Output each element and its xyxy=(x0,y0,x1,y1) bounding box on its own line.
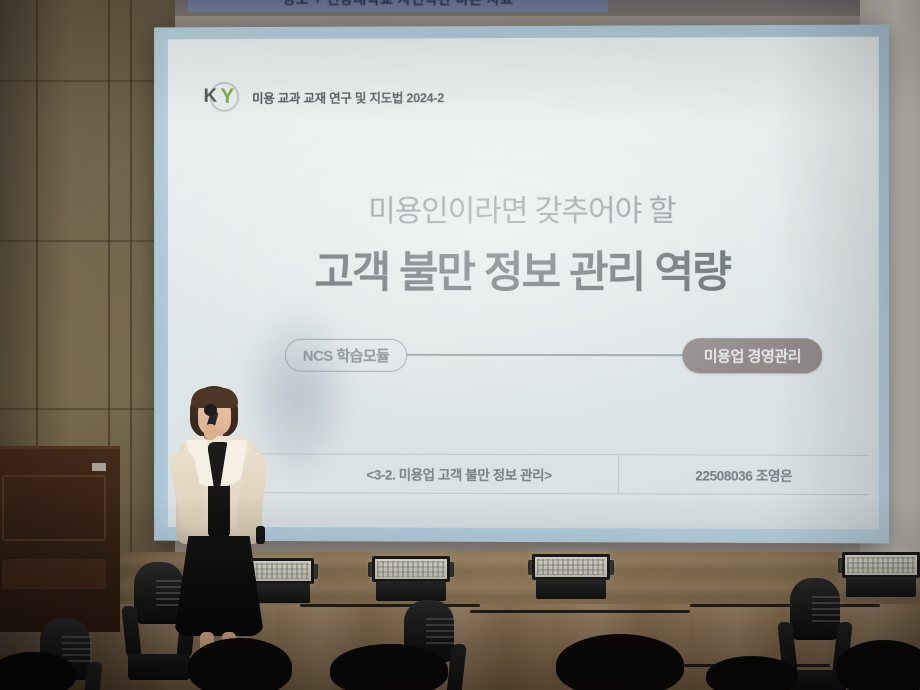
piano-tag xyxy=(92,463,106,471)
light-vent xyxy=(426,618,456,648)
footer-author-label: 22508036 조영은 xyxy=(619,455,869,494)
microphone-head xyxy=(204,404,217,416)
pill-connector-line xyxy=(407,354,682,356)
panel-base xyxy=(846,577,916,597)
panel-base xyxy=(536,579,606,599)
ky-logo-icon: K Y xyxy=(204,81,242,113)
wall-seam xyxy=(0,80,175,82)
audience-head xyxy=(188,638,292,690)
led-wash-panel xyxy=(368,556,454,606)
audience-head xyxy=(836,640,920,690)
panel-face xyxy=(842,552,920,578)
wall-seam xyxy=(0,408,175,410)
wall-seam xyxy=(130,0,132,560)
logo-letter-y: Y xyxy=(220,86,234,107)
piano-furniture xyxy=(0,446,120,632)
light-head xyxy=(790,578,840,640)
piano-panel xyxy=(2,475,106,541)
audience-head xyxy=(330,644,448,690)
wall-seam xyxy=(0,240,175,242)
panel-face xyxy=(372,556,450,582)
photo-scene: 정보 + 건강대학교 자연학관 바른 자료 K Y 미용 교과 교재 연구 및 … xyxy=(0,0,920,690)
presenter-hand xyxy=(204,424,217,440)
top-banner-text: 정보 + 건강대학교 자연학관 바른 자료 xyxy=(188,0,608,12)
panel-face xyxy=(532,554,610,580)
slide-subtitle: 미용인이라면 갖추어야 할 xyxy=(168,185,879,230)
slide-header: K Y 미용 교과 교재 연구 및 지도법 2024-2 xyxy=(204,80,445,113)
led-wash-panel xyxy=(528,554,614,604)
piano-panel xyxy=(2,559,106,589)
light-vent xyxy=(812,596,842,626)
course-title: 미용 교과 교재 연구 및 지도법 2024-2 xyxy=(252,87,444,106)
business-management-pill: 미용업 경영관리 xyxy=(683,338,823,373)
logo-letter-k: K xyxy=(204,87,217,106)
audience-head xyxy=(706,656,798,690)
presentation-clicker xyxy=(256,526,265,544)
pill-connector-row: NCS 학습모듈 미용업 경영관리 xyxy=(285,338,822,373)
presenter xyxy=(160,386,282,670)
audience-head xyxy=(556,634,684,690)
top-cutoff-banner: 정보 + 건강대학교 자연학관 바른 자료 xyxy=(188,0,608,12)
ncs-module-pill: NCS 학습모듈 xyxy=(285,338,407,371)
slide-title: 고객 불만 정보 관리 역량 xyxy=(168,238,879,300)
slide-footer: <3-2. 미용업 고객 불만 정보 관리> 22508036 조영은 xyxy=(186,453,869,495)
stage-cable xyxy=(470,610,690,613)
presenter-skirt xyxy=(174,536,264,636)
panel-base xyxy=(376,581,446,601)
